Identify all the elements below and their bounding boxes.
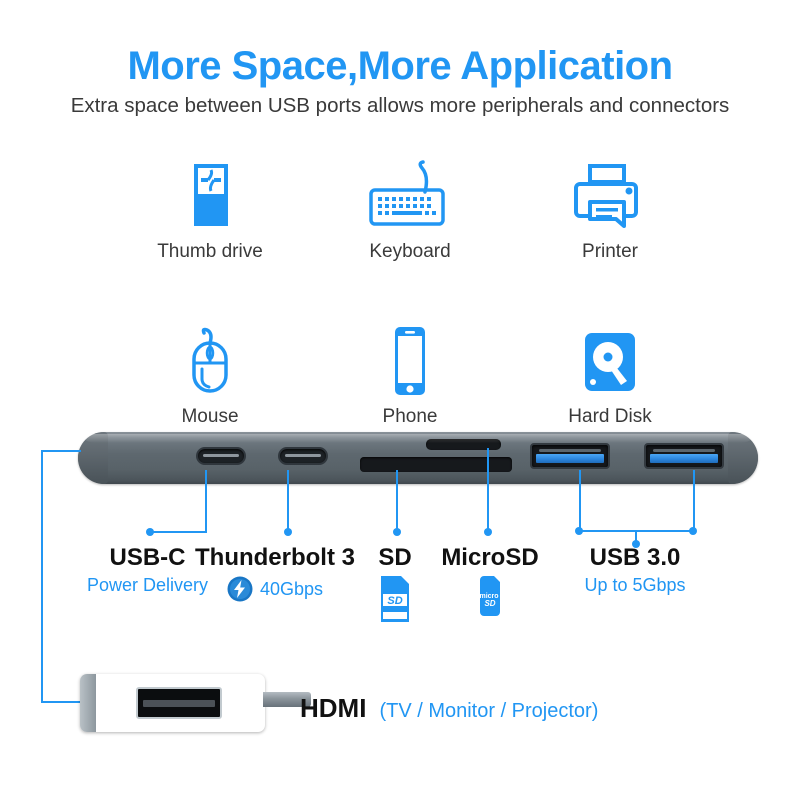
mouse-icon: [110, 325, 310, 397]
peripheral-row-1: Thumb drive: [110, 160, 710, 263]
pointer-usb3-left-vertical: [579, 470, 581, 531]
label-title: MicroSD: [420, 545, 560, 572]
peripheral-phone: Phone: [310, 325, 510, 428]
port-usb-3-0-left: [530, 443, 610, 469]
pointer-dot-usb3-left: [575, 527, 583, 535]
label-hdmi: HDMI (TV / Monitor / Projector): [300, 693, 598, 724]
hdmi-adapter-module: [80, 674, 265, 732]
peripheral-label: Printer: [582, 241, 638, 263]
usb-hub-device: [78, 432, 758, 484]
hub-right-cap: [728, 432, 758, 484]
peripheral-row-2: Mouse Phone: [110, 325, 710, 428]
keyboard-icon: [310, 160, 510, 232]
pointer-usb-c-horizontal: [150, 531, 207, 533]
printer-icon: [510, 160, 710, 232]
peripheral-icon-grid: Thumb drive: [110, 160, 710, 428]
peripheral-mouse: Mouse: [110, 325, 310, 428]
peripheral-thumb-drive: Thumb drive: [110, 160, 310, 263]
thumb-drive-icon: [110, 160, 310, 232]
sd-card-icon: SD: [377, 576, 413, 622]
sd-logo-text: SD: [387, 595, 402, 607]
pointer-dot-usb-c: [146, 528, 154, 536]
pointer-usb3-right-vertical: [693, 470, 695, 531]
label-subtitle: 40Gbps: [260, 579, 323, 599]
infographic-page: More Space,More Application Extra space …: [0, 0, 800, 800]
page-subtitle: Extra space between USB ports allows mor…: [0, 94, 800, 118]
peripheral-label: Thumb drive: [157, 241, 263, 263]
peripheral-label: Mouse: [181, 406, 238, 428]
pointer-thunderbolt-vertical: [287, 470, 289, 531]
hard-disk-icon: [510, 325, 710, 397]
thunderbolt-badge-icon: [227, 576, 253, 602]
slot-sd: [360, 457, 512, 472]
slot-microsd: [426, 439, 501, 450]
peripheral-label: Keyboard: [369, 241, 450, 263]
phone-icon: [310, 325, 510, 397]
peripheral-keyboard: Keyboard: [310, 160, 510, 263]
label-subtitle: Up to 5Gbps: [560, 575, 710, 595]
label-usb-3-0: USB 3.0 Up to 5Gbps: [560, 545, 710, 595]
peripheral-hard-disk: Hard Disk: [510, 325, 710, 428]
pointer-dot-thunderbolt: [284, 528, 292, 536]
label-microsd: MicroSD micro SD: [420, 545, 560, 618]
pointer-microsd-vertical: [487, 448, 489, 531]
pointer-sd-vertical: [396, 470, 398, 531]
label-title: HDMI: [300, 693, 366, 724]
page-title: More Space,More Application: [0, 44, 800, 89]
hdmi-port: [136, 687, 222, 719]
pointer-dot-microsd: [484, 528, 492, 536]
pointer-usb-c-vertical: [205, 470, 207, 532]
port-usb-c: [196, 447, 246, 465]
label-title: USB 3.0: [560, 545, 710, 572]
peripheral-printer: Printer: [510, 160, 710, 263]
hub-left-cap: [78, 432, 108, 484]
microsd-card-art: micro SD: [420, 576, 560, 618]
port-thunderbolt-3: [278, 447, 328, 465]
label-subtitle: (TV / Monitor / Projector): [379, 700, 598, 723]
pointer-dot-sd: [393, 528, 401, 536]
peripheral-label: Hard Disk: [568, 406, 651, 428]
pointer-usb3-join-bar: [579, 530, 695, 532]
microsd-logo-bottom: SD: [484, 599, 495, 608]
microsd-card-icon: micro SD: [476, 576, 504, 618]
peripheral-label: Phone: [383, 406, 438, 428]
pointer-dot-usb3-right: [689, 527, 697, 535]
port-usb-3-0-right: [644, 443, 724, 469]
